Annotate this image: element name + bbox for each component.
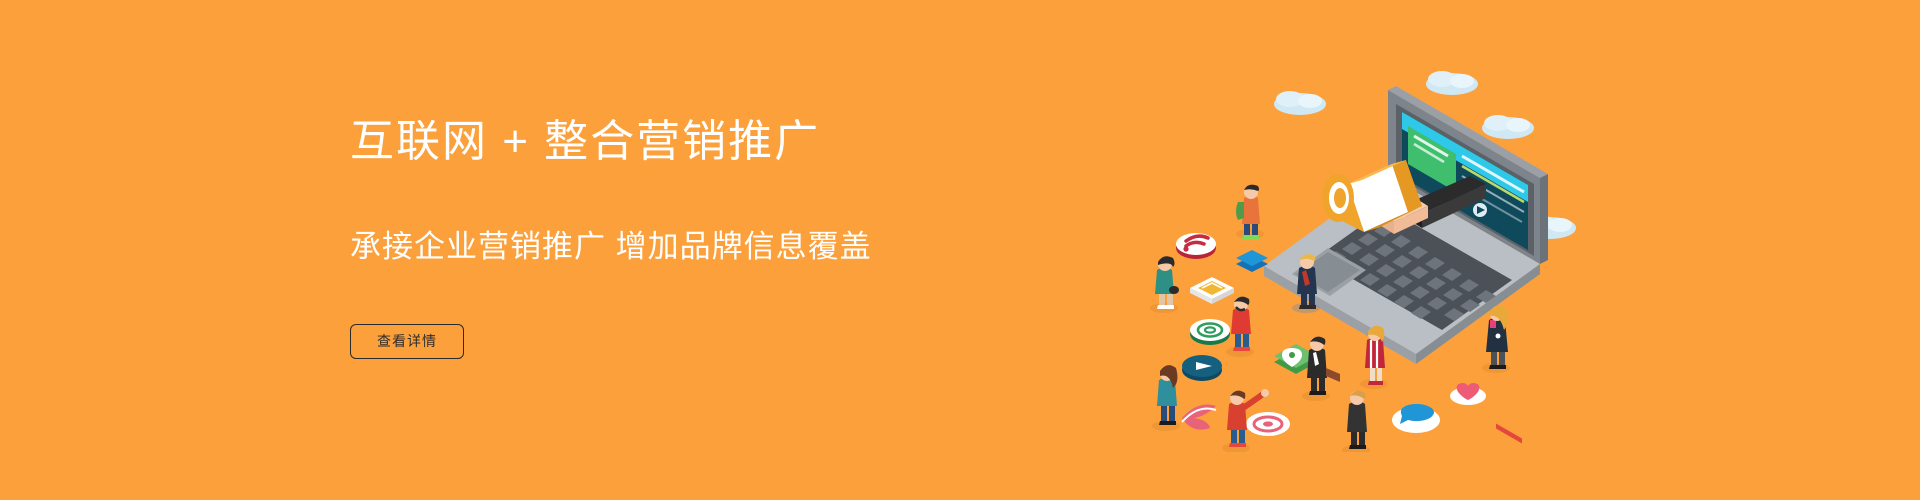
- person-red-shirt: [1226, 297, 1254, 357]
- person-blue-coat: [1152, 365, 1180, 431]
- banner-subheadline: 承接企业营销推广 增加品牌信息覆盖: [350, 228, 1170, 265]
- person-dark-coat: [1482, 305, 1510, 373]
- cloud-icon: [1426, 71, 1478, 95]
- at-icon: [1190, 319, 1230, 345]
- person-orange-jacket: [1236, 185, 1264, 239]
- heart-icon: [1450, 383, 1486, 405]
- banner-copy: 互联网 + 整合营销推广 承接企业营销推广 增加品牌信息覆盖 查看详情: [350, 118, 1170, 359]
- marketing-banner: 互联网 + 整合营销推广 承接企业营销推广 增加品牌信息覆盖 查看详情: [0, 0, 1920, 500]
- person-red-stripe-dress: [1360, 326, 1388, 389]
- cloud-icon: [1274, 91, 1326, 115]
- rss-icon: [1176, 233, 1216, 259]
- ribbon-icon: [1182, 405, 1216, 430]
- view-details-button[interactable]: 查看详情: [350, 324, 464, 359]
- chat-icon: [1392, 404, 1440, 433]
- illustration-isometric-marketing: [1140, 52, 1600, 452]
- loop-icon: [1246, 412, 1290, 436]
- cloud-icon: [1482, 115, 1534, 139]
- play-icon: [1182, 355, 1222, 381]
- note-icon: [1190, 277, 1234, 304]
- person-black-suit: [1302, 337, 1340, 401]
- banner-headline: 互联网 + 整合营销推广: [350, 118, 1170, 166]
- person-grey-suit: [1342, 391, 1370, 452]
- square-icon: [1236, 250, 1268, 272]
- person-teal-coat: [1150, 256, 1179, 313]
